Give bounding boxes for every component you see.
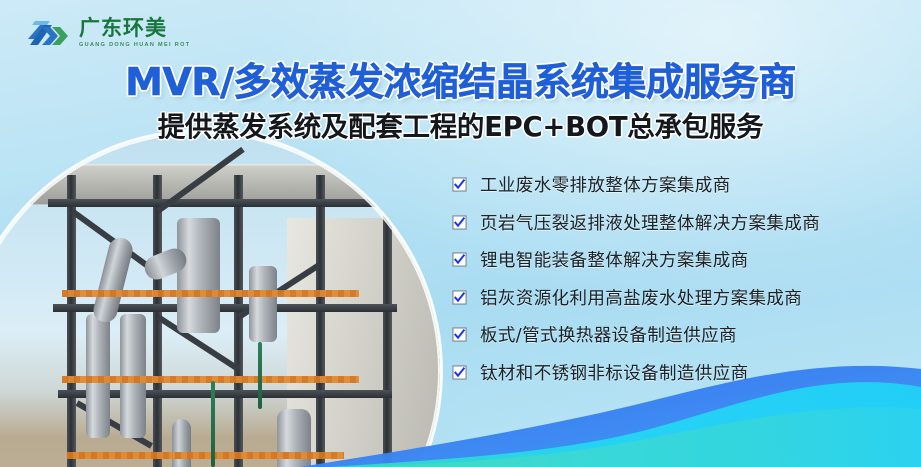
feature-item: 页岩气压裂返排液处理整体解决方案集成商 [452, 210, 820, 235]
feature-item-label: 钛材和不锈钢非标设备制造供应商 [480, 360, 749, 385]
promo-banner: 广东环美 GUANG DONG HUAN MEI ROT MVR/多效蒸发浓缩结… [0, 0, 921, 467]
feature-item-label: 锂电智能装备整体解决方案集成商 [480, 247, 749, 272]
brand-name-en: GUANG DONG HUAN MEI ROT [79, 43, 190, 49]
plant-photo-image [0, 132, 440, 467]
page-title: MVR/多效蒸发浓缩结晶系统集成服务商 [0, 62, 921, 103]
feature-item: 钛材和不锈钢非标设备制造供应商 [452, 360, 820, 385]
feature-item: 工业废水零排放整体方案集成商 [452, 172, 820, 197]
checkbox-checked-icon [452, 177, 467, 192]
checkbox-checked-icon [452, 327, 467, 342]
feature-item: 铝灰资源化利用高盐废水处理方案集成商 [452, 285, 820, 310]
brand-logo[interactable]: 广东环美 GUANG DONG HUAN MEI ROT [26, 18, 190, 49]
feature-item-label: 页岩气压裂返排液处理整体解决方案集成商 [480, 210, 820, 235]
plant-photo [0, 132, 440, 467]
checkbox-checked-icon [452, 252, 467, 267]
checkbox-checked-icon [452, 215, 467, 230]
checkbox-checked-icon [452, 290, 467, 305]
chevron-arrows-logo-icon [26, 19, 70, 47]
feature-item-label: 板式/管式换热器设备制造供应商 [480, 322, 737, 347]
feature-item: 锂电智能装备整体解决方案集成商 [452, 247, 820, 272]
brand-name-cn: 广东环美 [79, 18, 190, 39]
feature-item: 板式/管式换热器设备制造供应商 [452, 322, 820, 347]
checkbox-checked-icon [452, 365, 467, 380]
feature-item-label: 铝灰资源化利用高盐废水处理方案集成商 [480, 285, 802, 310]
feature-list: 工业废水零排放整体方案集成商页岩气压裂返排液处理整体解决方案集成商锂电智能装备整… [452, 172, 820, 385]
feature-item-label: 工业废水零排放整体方案集成商 [480, 172, 731, 197]
headline-block: MVR/多效蒸发浓缩结晶系统集成服务商 提供蒸发系统及配套工程的EPC+BOT总… [0, 62, 921, 142]
